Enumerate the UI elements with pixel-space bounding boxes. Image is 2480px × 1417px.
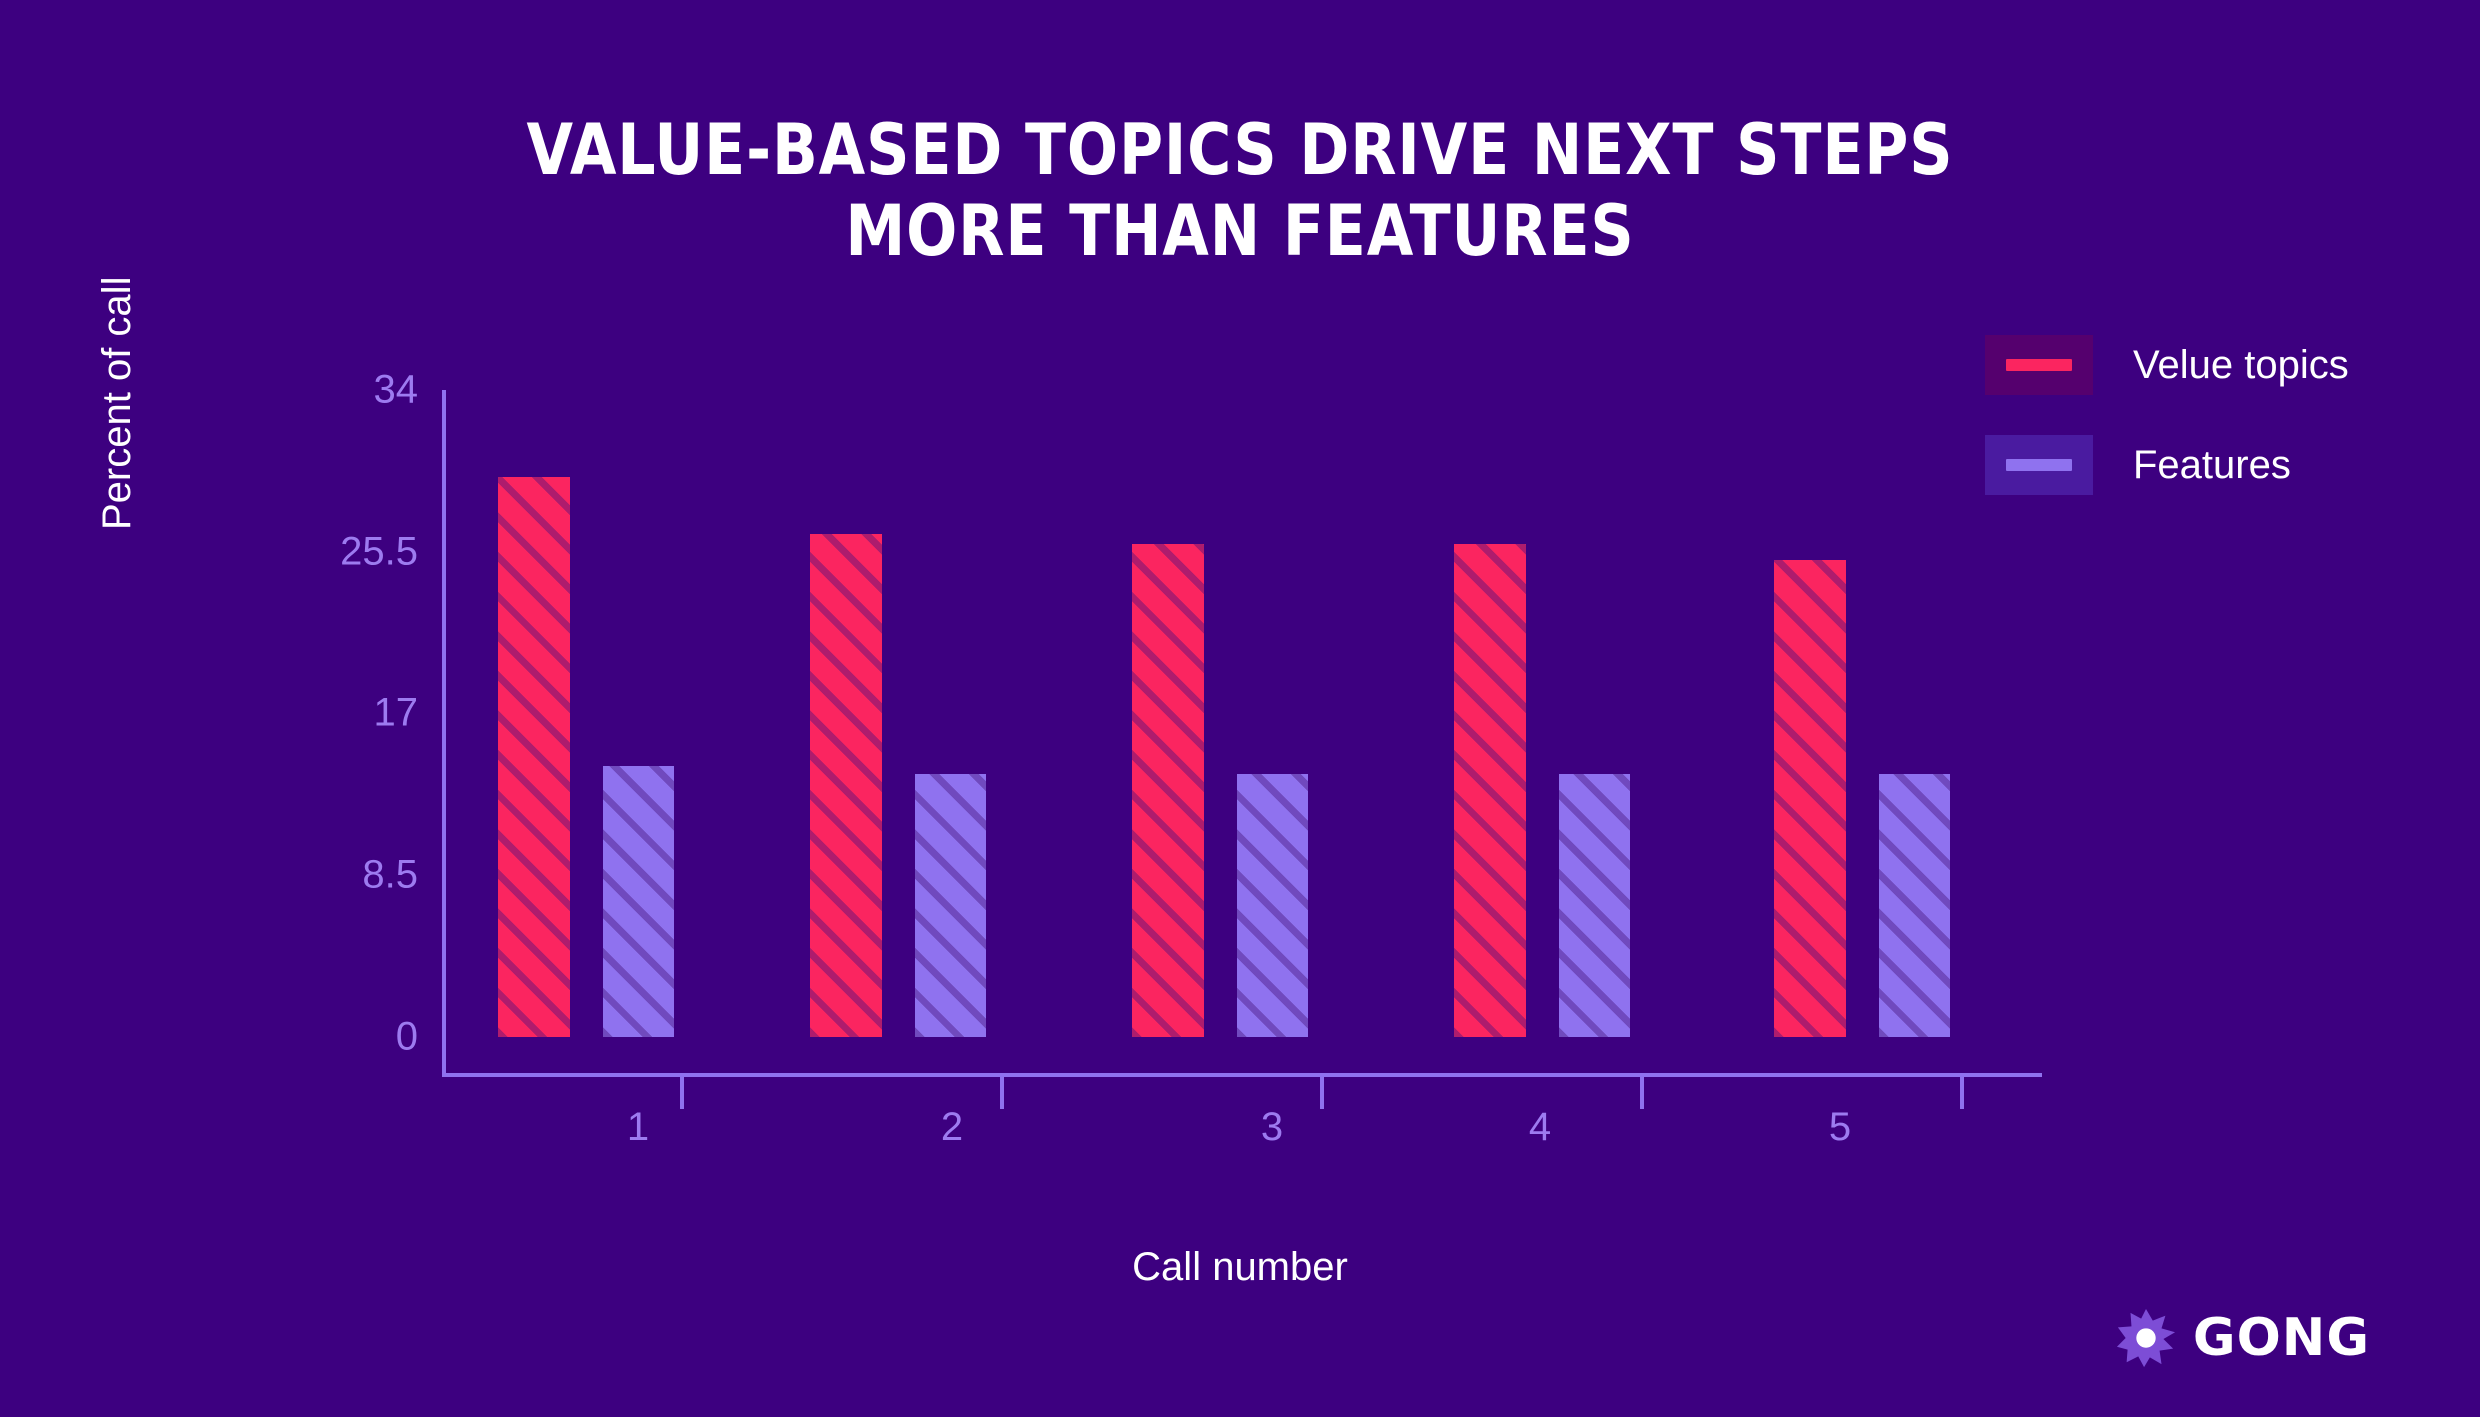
bar-value-topics-1[interactable]: [498, 477, 570, 1037]
brand-logo: GONG: [2115, 1307, 2370, 1369]
x-axis-tick-labels: 1 2 3 4 5: [442, 1105, 2042, 1165]
legend-item-value-topics[interactable]: Velue topics: [1985, 335, 2349, 395]
y-tick-0: 0: [396, 1015, 418, 1060]
y-tick-25-5: 25.5: [340, 530, 418, 575]
x-tick-label-3: 3: [1261, 1105, 1283, 1150]
y-axis-tick-labels: 0 8.5 17 25.5 34: [300, 390, 418, 1077]
y-tick-34: 34: [374, 368, 419, 413]
bar-features-2[interactable]: [915, 774, 986, 1037]
title-line-2: MORE THAN FEATURES: [174, 191, 2307, 272]
legend-label-value-topics: Velue topics: [2133, 343, 2349, 388]
bar-features-5[interactable]: [1879, 774, 1950, 1037]
page-title: VALUE-BASED TOPICS DRIVE NEXT STEPS MORE…: [174, 110, 2307, 272]
y-tick-8-5: 8.5: [362, 853, 418, 898]
gong-starburst-icon: [2115, 1307, 2177, 1369]
chart-canvas: VALUE-BASED TOPICS DRIVE NEXT STEPS MORE…: [0, 0, 2480, 1417]
bar-value-topics-5[interactable]: [1774, 560, 1846, 1037]
y-tick-17: 17: [374, 691, 419, 736]
bar-value-topics-2[interactable]: [810, 534, 882, 1037]
y-axis-title: Percent of call: [95, 277, 140, 530]
x-axis-title: Call number: [0, 1245, 2480, 1290]
x-tick-label-5: 5: [1829, 1105, 1851, 1150]
legend-label-features: Features: [2133, 443, 2291, 488]
legend-swatch-icon-value-topics: [1985, 335, 2093, 395]
title-line-1: VALUE-BASED TOPICS DRIVE NEXT STEPS: [174, 110, 2307, 191]
bar-features-3[interactable]: [1237, 774, 1308, 1037]
bar-value-topics-3[interactable]: [1132, 544, 1204, 1037]
brand-name: GONG: [2193, 1308, 2370, 1368]
bar-series-group: [442, 390, 2042, 1037]
x-tick-label-1: 1: [627, 1105, 649, 1150]
bar-value-topics-4[interactable]: [1454, 544, 1526, 1037]
bar-features-4[interactable]: [1559, 774, 1630, 1037]
bar-features-1[interactable]: [603, 766, 674, 1037]
x-tick-label-2: 2: [941, 1105, 963, 1150]
x-tick-label-4: 4: [1529, 1105, 1551, 1150]
